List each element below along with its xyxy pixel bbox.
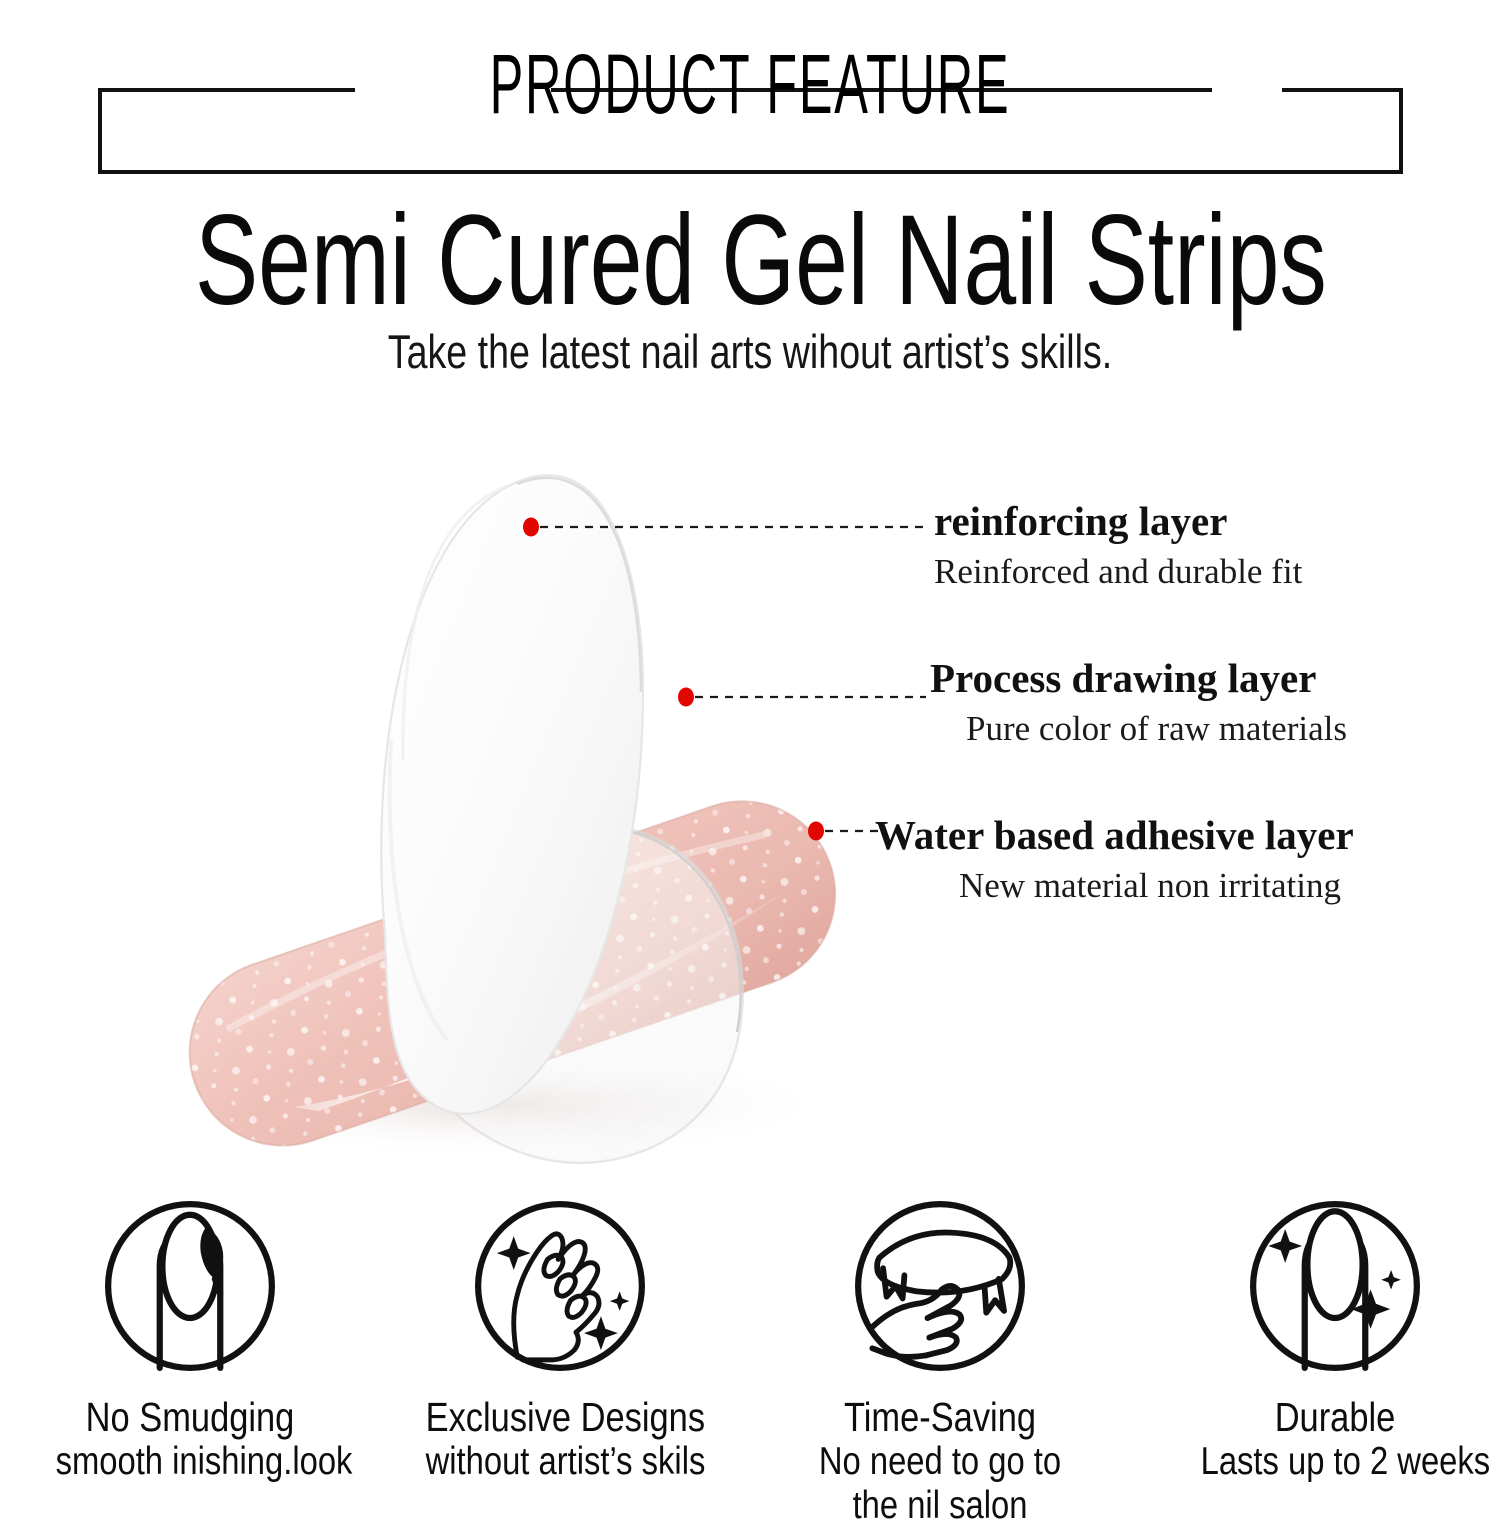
manicured-hand-sparkle-icon <box>471 1195 649 1377</box>
feature-item-time-saving: Time-Saving No need to go to the nil sal… <box>780 1195 1100 1528</box>
feature-subtitle: No need to go to the nil salon <box>806 1440 1075 1528</box>
header: PRODUCT FEATURE <box>0 0 1500 200</box>
feature-subtitle: smooth inishing.look <box>56 1440 325 1484</box>
eyebrow-box-gap-right <box>1212 80 1282 102</box>
feature-caption: Exclusive Designs without artist’s skils <box>426 1395 695 1484</box>
callout-title: Process drawing layer <box>930 655 1347 701</box>
callout-process-drawing-layer: Process drawing layer Pure color of raw … <box>930 655 1347 751</box>
eyebrow-label: PRODUCT FEATURE <box>300 42 1200 126</box>
callout-subtitle: Reinforced and durable fit <box>934 550 1302 594</box>
feature-subtitle: Lasts up to 2 weeks <box>1201 1440 1470 1484</box>
nail-polish-brush-icon <box>101 1195 279 1377</box>
feature-title: Durable <box>1201 1395 1470 1440</box>
callout-title: Water based adhesive layer <box>875 812 1354 858</box>
page-title: Semi Cured Gel Nail Strips <box>195 205 1305 317</box>
feature-item-no-smudging: No Smudging smooth inishing.look <box>30 1195 350 1484</box>
nail-sparkle-icon <box>1246 1195 1424 1377</box>
feature-title: No Smudging <box>56 1395 325 1440</box>
product-illustration <box>55 430 935 1170</box>
callout-subtitle: New material non irritating <box>959 864 1354 908</box>
feature-title: Time-Saving <box>806 1395 1075 1440</box>
feature-title: Exclusive Designs <box>426 1395 695 1440</box>
callout-water-based-adhesive-layer: Water based adhesive layer New material … <box>875 812 1354 908</box>
feature-item-exclusive-designs: Exclusive Designs without artist’s skils <box>400 1195 720 1484</box>
callout-subtitle: Pure color of raw materials <box>966 707 1347 751</box>
page-subtitle: Take the latest nail arts wihout artist’… <box>150 325 1350 379</box>
callout-title: reinforcing layer <box>934 498 1302 544</box>
uv-nail-lamp-icon <box>851 1195 1029 1377</box>
feature-caption: No Smudging smooth inishing.look <box>56 1395 325 1484</box>
feature-item-durable: Durable Lasts up to 2 weeks <box>1175 1195 1495 1484</box>
feature-subtitle: without artist’s skils <box>426 1440 695 1484</box>
feature-caption: Time-Saving No need to go to the nil sal… <box>806 1395 1075 1528</box>
feature-caption: Durable Lasts up to 2 weeks <box>1201 1395 1470 1484</box>
feature-row: No Smudging smooth inishing.look Exclusi… <box>0 1195 1500 1500</box>
callout-reinforcing-layer: reinforcing layer Reinforced and durable… <box>934 498 1302 594</box>
